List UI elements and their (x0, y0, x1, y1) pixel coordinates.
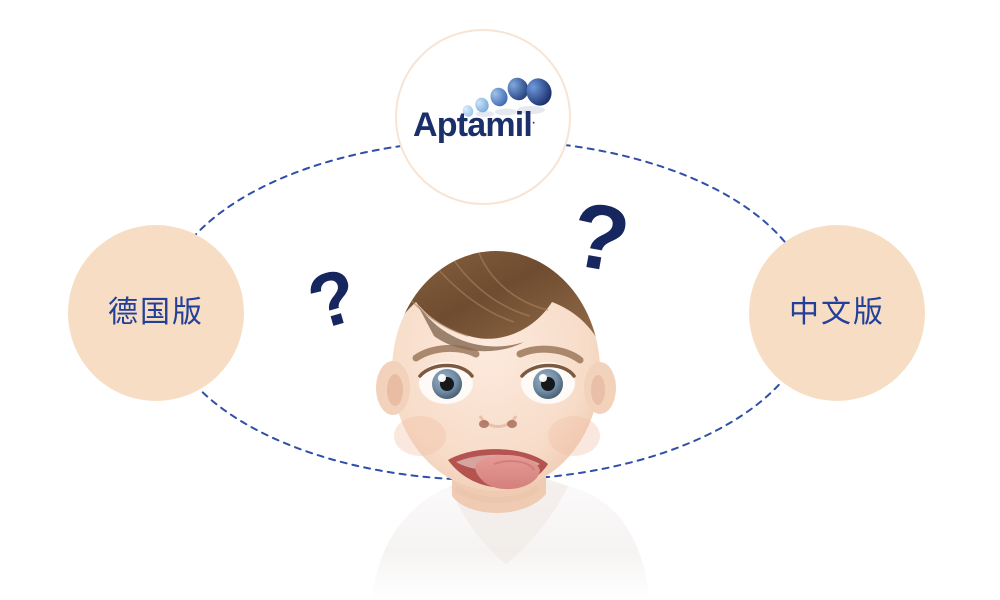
baby-eye-right (521, 362, 575, 404)
aptamil-wordmark: Aptamil. (413, 108, 553, 142)
aptamil-logo: Aptamil. (413, 72, 553, 162)
baby-photo (338, 238, 668, 600)
aptamil-trademark-mark: . (532, 115, 534, 127)
baby-cheek-left (394, 416, 446, 456)
node-aptamil-brand[interactable]: Aptamil. (395, 29, 571, 205)
baby-ear-right-inner (591, 375, 605, 405)
baby-nostril-right (507, 420, 517, 428)
baby-cheek-right (548, 416, 600, 456)
node-german-version-label: 德国版 (108, 298, 204, 328)
node-chinese-version-label: 中文版 (789, 298, 885, 328)
infographic-canvas: 德国版 中文版 (0, 0, 1000, 600)
node-chinese-version[interactable]: 中文版 (749, 225, 925, 401)
baby-eye-left (419, 362, 473, 404)
aptamil-wordmark-text: Aptamil (413, 106, 532, 144)
baby-nostril-left (479, 420, 489, 428)
node-german-version[interactable]: 德国版 (68, 225, 244, 401)
baby-ear-left-inner (387, 374, 403, 406)
